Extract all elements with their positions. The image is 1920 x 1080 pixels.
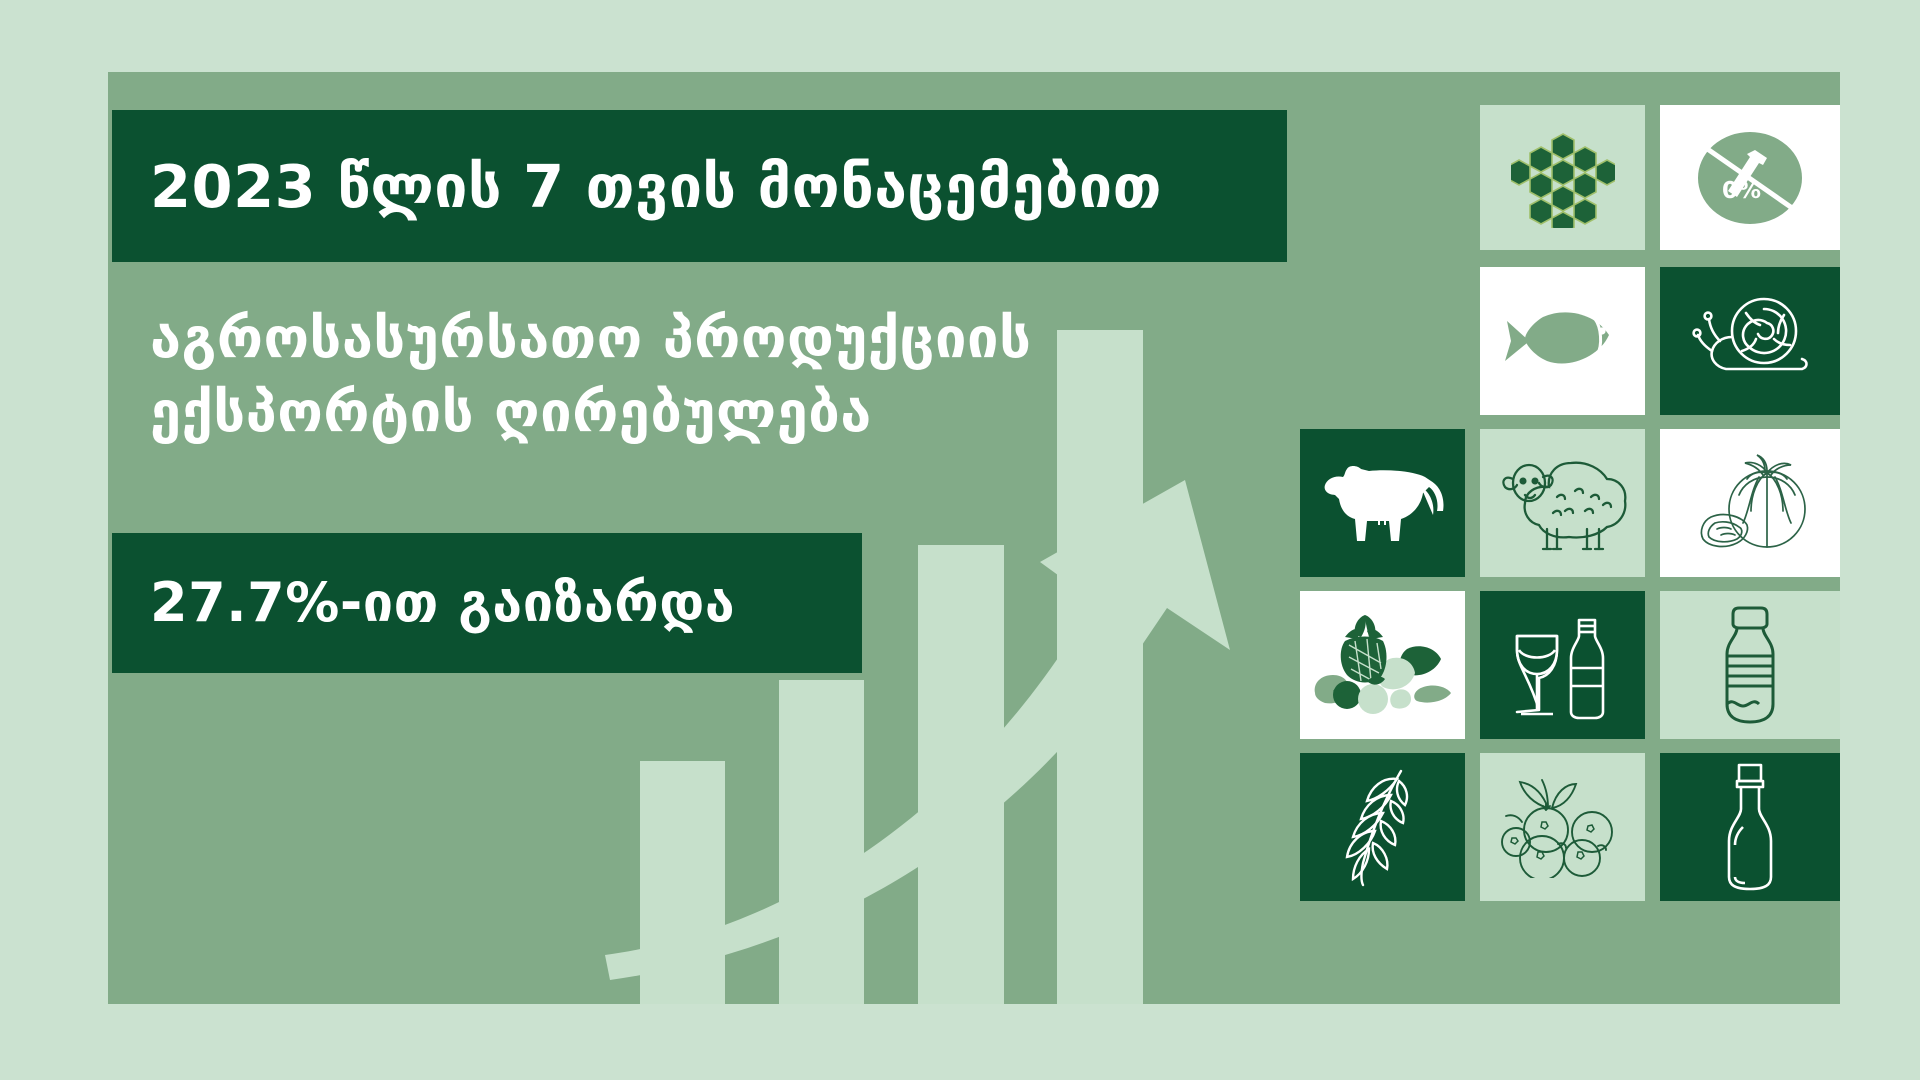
tile-honeycomb xyxy=(1480,105,1645,250)
tile-snail xyxy=(1660,267,1840,415)
tomato-icon xyxy=(1681,451,1819,555)
blueberries-icon xyxy=(1498,776,1628,878)
fruits-vegetables-icon xyxy=(1311,613,1455,717)
bar-2 xyxy=(779,680,864,1004)
wine-icon xyxy=(1505,606,1621,724)
page-title: 2023 წლის 7 თვის მონაცემებით xyxy=(112,157,1162,216)
water-bottle-icon xyxy=(1713,604,1787,726)
spirits-bottle-icon xyxy=(1717,763,1783,891)
tile-fruits-vegetables xyxy=(1300,591,1465,739)
title-banner: 2023 წლის 7 თვის მონაცემებით xyxy=(112,110,1287,262)
growth-bar-chart xyxy=(640,330,1280,1004)
tile-wine xyxy=(1480,591,1645,739)
bar-1 xyxy=(640,761,725,1004)
product-icon-grid: 0% xyxy=(1300,105,1840,1005)
sheep-icon xyxy=(1495,453,1631,553)
cow-icon xyxy=(1317,457,1449,549)
tile-cow xyxy=(1300,429,1465,577)
tile-no-alcohol: 0% xyxy=(1660,105,1840,250)
tile-sheep xyxy=(1480,429,1645,577)
snail-icon xyxy=(1680,293,1820,389)
honeycomb-icon xyxy=(1511,128,1615,228)
infographic-root: 2023 წლის 7 თვის მონაცემებით აგროსასურსა… xyxy=(0,0,1920,1080)
tile-spirits-bottle xyxy=(1660,753,1840,901)
tile-water-bottle xyxy=(1660,591,1840,739)
fish-icon xyxy=(1503,305,1623,377)
tile-herb-sprig xyxy=(1300,753,1465,901)
no-alcohol-icon: 0% xyxy=(1689,122,1811,234)
tile-fish xyxy=(1480,267,1645,415)
tile-blueberries xyxy=(1480,753,1645,901)
bar-4 xyxy=(1057,330,1143,1004)
bar-3 xyxy=(918,545,1004,1004)
herb-sprig-icon xyxy=(1329,765,1437,889)
no-alcohol-badge: 0% xyxy=(1722,178,1761,204)
tile-tomato xyxy=(1660,429,1840,577)
